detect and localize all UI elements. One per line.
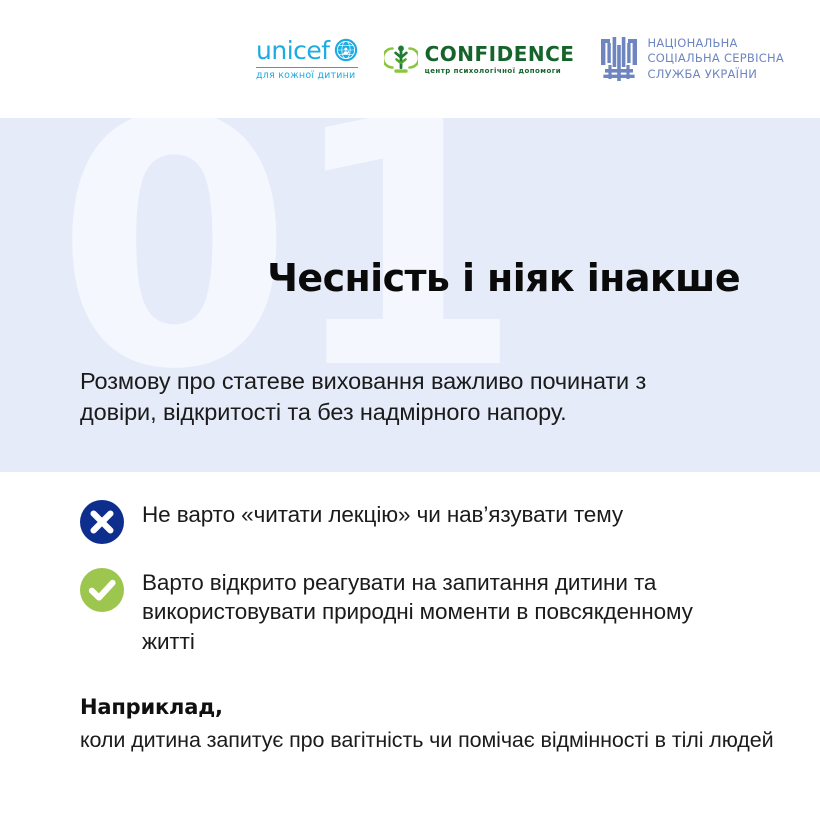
nssu-line-3: СЛУЖБА УКРАЇНИ — [647, 67, 784, 82]
page-title: Чесність і ніяк інакше — [267, 258, 740, 300]
confidence-text: CONFIDENCE центр психологічної допомоги — [425, 44, 575, 75]
example-label: Наприклад, — [80, 694, 820, 721]
confidence-tree-icon — [384, 43, 418, 75]
tryzub-icon — [600, 36, 638, 82]
nssu-line-2: СОЦІАЛЬНА СЕРВІСНА — [647, 51, 784, 66]
hero-band: 01 Чесність і ніяк інакше Розмову про ст… — [0, 118, 820, 472]
nssu-line-1: НАЦІОНАЛЬНА — [647, 36, 784, 51]
unicef-logo: unicef для кожної дитини — [256, 38, 358, 81]
hero-description: Розмову про статеве виховання важливо по… — [80, 366, 720, 429]
national-social-service-logo: НАЦІОНАЛЬНА СОЦІАЛЬНА СЕРВІСНА СЛУЖБА УК… — [600, 36, 784, 82]
example-block: Наприклад, коли дитина запитує про вагіт… — [0, 678, 820, 755]
advice-list: Не варто «читати лекцію» чи нав’язувати … — [0, 472, 820, 656]
unicef-globe-icon — [334, 38, 358, 62]
confidence-wordmark: CONFIDENCE — [425, 44, 575, 64]
national-social-service-text: НАЦІОНАЛЬНА СОЦІАЛЬНА СЕРВІСНА СЛУЖБА УК… — [647, 36, 784, 82]
confidence-logo: CONFIDENCE центр психологічної допомоги — [384, 43, 575, 75]
cross-circle-icon — [80, 500, 124, 544]
unicef-logo-top: unicef — [256, 38, 358, 63]
logo-strip: unicef для кожної дитини — [0, 0, 820, 118]
check-circle-icon — [80, 568, 124, 612]
unicef-tagline: для кожної дитини — [256, 71, 355, 81]
unicef-divider — [256, 67, 358, 68]
list-item: Не варто «читати лекцію» чи нав’язувати … — [80, 498, 820, 544]
confidence-tagline: центр психологічної допомоги — [425, 68, 562, 75]
list-item-label: Варто відкрито реагувати на запитання ди… — [142, 566, 722, 656]
unicef-wordmark: unicef — [256, 38, 330, 63]
example-body: коли дитина запитує про вагітність чи по… — [80, 726, 820, 754]
list-item-label: Не варто «читати лекцію» чи нав’язувати … — [142, 498, 623, 529]
list-item: Варто відкрито реагувати на запитання ди… — [80, 566, 820, 656]
